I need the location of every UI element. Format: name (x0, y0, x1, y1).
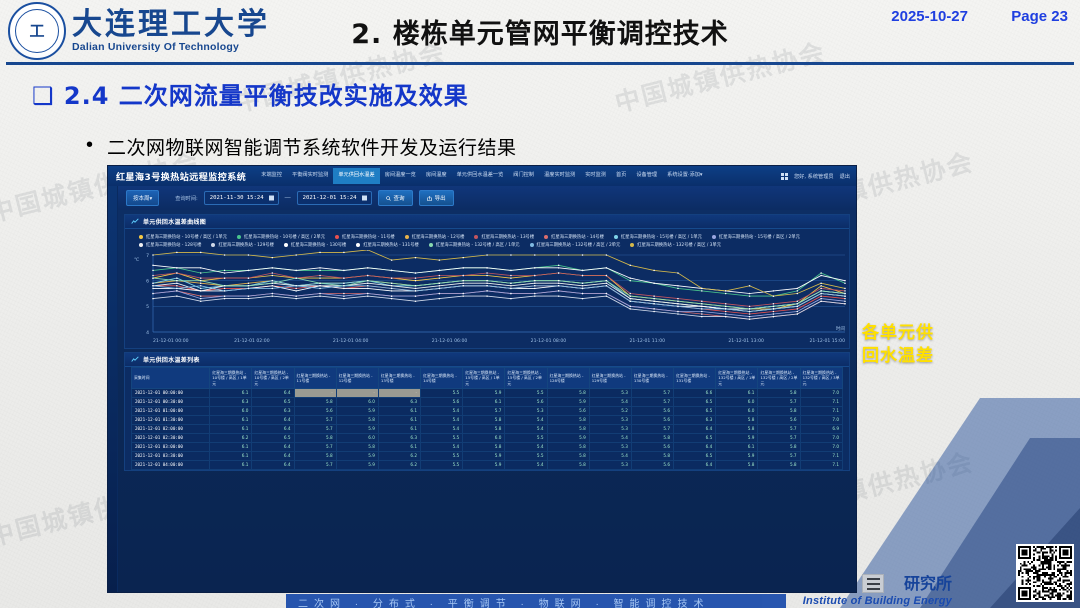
legend-item-7[interactable]: 红星海三期换热站 - 15号楼 / 高区 / 2单元 (712, 234, 800, 240)
slide-canvas: 中国城镇供热协会 中国城镇供热协会 中国城镇供热协会 中国城镇供热协会 中国城镇… (0, 0, 1080, 608)
table-cell: 5.6 (631, 460, 673, 469)
legend-item-11[interactable]: 红星海三期换热站 - 131号楼 (356, 242, 418, 248)
table-cell: 5.8 (758, 388, 800, 397)
footer-institute-cn: 研究所 (904, 570, 952, 594)
table-cell: 5.9 (463, 388, 505, 397)
legend-swatch (211, 243, 215, 247)
table-cell: 6.3 (252, 406, 294, 415)
table-cell: 6.5 (674, 397, 716, 406)
table-cell: 6.2 (210, 433, 252, 442)
table-cell: 6.6 (674, 388, 716, 397)
table-cell: 5.7 (631, 388, 673, 397)
svg-text:21-12-01 04:00: 21-12-01 04:00 (333, 338, 369, 344)
svg-text:4: 4 (146, 330, 149, 336)
table-cell: 6.1 (378, 406, 420, 415)
header-date: 2025-10-27 (891, 8, 968, 25)
legend-label: 红星海三期换热站 - 15号楼 / 高区 / 1单元 (621, 234, 702, 240)
table-cell: 5.5 (505, 433, 547, 442)
table-cell: 5.4 (505, 442, 547, 451)
chart-legend: 红星海三期换热站 - 10号楼 / 高区 / 1单元红星海三期换热站 - 10号… (125, 229, 849, 250)
table-chart-icon (131, 356, 139, 363)
table-row[interactable]: 2021-12-01 01:00:006.06.35.65.96.15.45.7… (132, 406, 843, 415)
table-cell: 7.1 (800, 460, 842, 469)
table-cell: 5.9 (336, 460, 378, 469)
table-cell-time: 2021-12-01 02:00:00 (132, 424, 210, 433)
legend-item-13[interactable]: 红星海三期换热站 - 132号楼 / 高区 / 2单元 (530, 242, 621, 248)
table-cell-time: 2021-12-01 01:00:00 (132, 406, 210, 415)
grid-icon[interactable] (781, 173, 788, 180)
table-cell: 6.3 (378, 433, 420, 442)
svg-text:21-12-01 13:00: 21-12-01 13:00 (728, 338, 764, 344)
table-cell: 5.9 (463, 451, 505, 460)
legend-label: 红星海三期换热站 - 12号楼 (412, 234, 465, 240)
legend-swatch (474, 235, 478, 239)
table-cell: 6.4 (252, 415, 294, 424)
table-cell: 6.2 (378, 451, 420, 460)
app-main-content: 按本周▾ 查询时间: 2021-11-30 15:24 — 2021-12-01… (118, 186, 856, 592)
legend-item-14[interactable]: 红星海三期换热站 - 132号楼 / 高区 / 3单元 (630, 242, 721, 248)
table-cell: 5.8 (463, 415, 505, 424)
legend-swatch (712, 235, 716, 239)
date-from-input[interactable]: 2021-11-30 15:24 (204, 191, 279, 205)
table-cell: 5.8 (547, 451, 589, 460)
table-cell: 5.7 (758, 424, 800, 433)
table-cell: 5.8 (631, 433, 673, 442)
qr-code (1016, 544, 1074, 602)
table-cell: 5.6 (758, 415, 800, 424)
table-cell: 6.3 (378, 397, 420, 406)
nav-item-11[interactable]: 系统设置·添加▾ (662, 169, 707, 182)
table-cell: 6.1 (378, 415, 420, 424)
export-button-label: 导出 (435, 194, 446, 202)
table-cell: 5.3 (589, 388, 631, 397)
table-cell: 5.6 (631, 442, 673, 451)
table-cell: 5.4 (505, 460, 547, 469)
table-cell: 5.7 (294, 442, 336, 451)
table-cell: 5.5 (421, 388, 463, 397)
date-to-input[interactable]: 2021-12-01 15:24 (297, 191, 372, 205)
legend-item-4[interactable]: 红星海三期换热站 - 13号楼 (474, 234, 534, 240)
line-chart-svg: 456721-12-01 00:0021-12-01 02:0021-12-01… (131, 250, 855, 346)
legend-swatch (139, 243, 143, 247)
chart-annotation-line1: 各单元供 (862, 322, 934, 345)
legend-label: 红星海三期换热站 - 132号楼 / 高区 / 3单元 (637, 242, 721, 248)
table-cell: 6.0 (336, 433, 378, 442)
table-col-11: 红星海三期换热站 - 131号楼 (674, 368, 716, 389)
legend-label: 红星海三期换热站 - 14号楼 (551, 234, 604, 240)
table-cell: 5.8 (294, 397, 336, 406)
table-cell: 5.8 (547, 424, 589, 433)
table-cell: 6.1 (716, 388, 758, 397)
table-cell: 5.6 (631, 406, 673, 415)
nav-item-2[interactable]: 单元供回水温差 (333, 168, 379, 183)
table-cell: 7.0 (800, 388, 842, 397)
table-cell: 5.5 (505, 388, 547, 397)
table-cell: 5.3 (589, 442, 631, 451)
svg-text:21-12-01 00:00: 21-12-01 00:00 (153, 338, 189, 344)
table-cell: 5.8 (463, 424, 505, 433)
legend-swatch (530, 243, 534, 247)
export-icon (427, 196, 432, 201)
legend-swatch (544, 235, 548, 239)
legend-item-3[interactable]: 红星海三期换热站 - 12号楼 (405, 234, 465, 240)
table-cell: 6.1 (716, 442, 758, 451)
table-cell-time: 2021-12-01 01:30:00 (132, 415, 210, 424)
table-cell: 6.4 (252, 451, 294, 460)
table-cell: 6.0 (716, 406, 758, 415)
table-cell: 6.0 (463, 433, 505, 442)
table-cell: 5.9 (336, 424, 378, 433)
footer-institute-en: Institute of Building Energy (803, 595, 952, 607)
svg-text:21-12-01 06:00: 21-12-01 06:00 (432, 338, 468, 344)
table-cell: 5.9 (463, 460, 505, 469)
table-cell: 6.5 (252, 397, 294, 406)
app-nav-items: 末端监控平衡阀实时监测单元供回水温差房间温度一览房间温度单元供回水温差一览阀门控… (256, 168, 707, 183)
table-cell: 5.8 (758, 442, 800, 451)
current-user-label: 您好, 系统管理员 (794, 173, 834, 180)
nav-item-5[interactable]: 单元供回水温差一览 (452, 169, 509, 182)
table-cell-time: 2021-12-01 04:00:00 (132, 460, 210, 469)
table-cell: 5.8 (716, 424, 758, 433)
svg-text:时间: 时间 (836, 325, 846, 332)
nav-item-10[interactable]: 设备管理 (631, 169, 662, 182)
legend-item-1[interactable]: 红星海三期换热站 - 10号楼 / 高区 / 2单元 (237, 234, 325, 240)
table-cell: 5.3 (589, 415, 631, 424)
date-preset-select[interactable]: 按本周▾ (126, 190, 159, 206)
table-col-time: 采集时间 (132, 368, 210, 389)
table-cell: 5.3 (589, 424, 631, 433)
table-cell: 5.8 (336, 442, 378, 451)
table-cell: 5.8 (463, 442, 505, 451)
legend-label: 红星海三期换热站 - 11号楼 (342, 234, 395, 240)
table-cell: 6.4 (674, 424, 716, 433)
legend-label: 红星海三期换热站 - 13号楼 (481, 234, 534, 240)
data-table: 采集时间红星海三期换热站 - 10号楼 / 高区 / 1单元红星海三期换热站 -… (131, 367, 843, 470)
table-cell: 5.5 (421, 451, 463, 460)
table-cell: 6.1 (210, 388, 252, 397)
table-col-9: 红星海三期换热站 - 129号楼 (589, 368, 631, 389)
table-cell: 5.8 (547, 388, 589, 397)
table-cell: 5.7 (758, 433, 800, 442)
table-cell: 5.4 (589, 433, 631, 442)
svg-text:7: 7 (146, 253, 149, 259)
table-cell: 5.3 (589, 460, 631, 469)
table-cell: 5.5 (421, 460, 463, 469)
nav-item-8[interactable]: 实时监测 (580, 169, 611, 182)
table-cell: - (378, 388, 420, 397)
table-cell-time: 2021-12-01 02:30:00 (132, 433, 210, 442)
table-cell: 5.9 (716, 451, 758, 460)
table-cell: 7.1 (800, 406, 842, 415)
table-col-2: 红星海三期换热站 - 11号楼 (294, 368, 336, 389)
table-cell: 5.4 (589, 451, 631, 460)
legend-label: 红星海三期换热站 - 10号楼 / 高区 / 2单元 (244, 234, 325, 240)
legend-item-6[interactable]: 红星海三期换热站 - 15号楼 / 高区 / 1单元 (614, 234, 702, 240)
app-nav-right: 您好, 系统管理员 退出 (781, 166, 850, 186)
table-cell: 5.8 (758, 406, 800, 415)
table-cell: 5.7 (294, 460, 336, 469)
table-panel-header: 单元供回水温差列表 (125, 353, 849, 367)
header-divider (6, 62, 1074, 65)
table-cell: 6.1 (378, 442, 420, 451)
table-cell: 5.4 (421, 424, 463, 433)
table-cell: 5.7 (294, 415, 336, 424)
table-cell: 5.7 (631, 424, 673, 433)
table-cell: 7.0 (800, 442, 842, 451)
table-cell: 5.7 (758, 451, 800, 460)
date-range-dash: — (285, 195, 291, 201)
chart-panel: 单元供回水温差曲线图 红星海三期换热站 - 10号楼 / 高区 / 1单元红星海… (124, 214, 850, 349)
table-cell: 6.2 (378, 460, 420, 469)
table-body: 2021-12-01 00:00:006.16.4---5.55.95.55.8… (132, 388, 843, 469)
app-brand-title: 红星海3号换热站远程监控系统 (116, 170, 246, 183)
table-cell: 5.6 (421, 397, 463, 406)
table-cell: 7.0 (800, 433, 842, 442)
table-col-3: 红星海三期换热站 - 12号楼 (336, 368, 378, 389)
embedded-app-screenshot: 红星海3号换热站远程监控系统 末端监控平衡阀实时监测单元供回水温差房间温度一览房… (108, 166, 856, 592)
table-cell: 5.8 (547, 442, 589, 451)
table-cell: 6.4 (674, 442, 716, 451)
table-row[interactable]: 2021-12-01 02:00:006.16.45.75.96.15.45.8… (132, 424, 843, 433)
svg-text:℃: ℃ (134, 257, 139, 263)
table-cell: 6.1 (210, 415, 252, 424)
legend-label: 红星海三期换热站 - 131号楼 (363, 242, 418, 248)
table-cell: 7.1 (800, 397, 842, 406)
table-row[interactable]: 2021-12-01 04:00:006.16.45.75.96.25.55.9… (132, 460, 843, 469)
legend-swatch (237, 235, 241, 239)
table-cell: 6.4 (252, 460, 294, 469)
legend-swatch (139, 235, 143, 239)
legend-item-2[interactable]: 红星海三期换热站 - 11号楼 (335, 234, 395, 240)
table-cell: 6.1 (210, 451, 252, 460)
table-row[interactable]: 2021-12-01 01:30:006.16.45.75.86.15.45.8… (132, 415, 843, 424)
bullet-text: 二次网物联网智能调节系统软件开发及运行结果 (107, 133, 517, 160)
table-cell: 5.8 (716, 415, 758, 424)
table-head: 采集时间红星海三期换热站 - 10号楼 / 高区 / 1单元红星海三期换热站 -… (132, 368, 843, 389)
table-cell: 5.8 (547, 460, 589, 469)
table-cell: 5.9 (336, 451, 378, 460)
legend-label: 红星海三期换热站 - 132号楼 / 高区 / 2单元 (537, 242, 621, 248)
legend-label: 红星海三期换热站 - 10号楼 / 高区 / 1单元 (146, 234, 227, 240)
nav-item-6[interactable]: 阀门控制 (508, 169, 539, 182)
table-cell: 6.4 (252, 388, 294, 397)
table-cell-time: 2021-12-01 00:00:00 (132, 388, 210, 397)
table-col-7: 红星海三期换热站 - 15号楼 / 高区 / 2单元 (505, 368, 547, 389)
table-cell: 5.4 (505, 424, 547, 433)
table-cell: 5.4 (589, 397, 631, 406)
table-cell: 5.4 (505, 415, 547, 424)
table-col-4: 红星海三期换热站 - 13号楼 (378, 368, 420, 389)
table-cell: 5.7 (758, 397, 800, 406)
table-cell: 5.5 (421, 433, 463, 442)
table-cell: - (294, 388, 336, 397)
table-cell: 5.9 (716, 433, 758, 442)
table-cell: 5.7 (294, 424, 336, 433)
table-cell: 7.1 (800, 451, 842, 460)
table-header-row: 采集时间红星海三期换热站 - 10号楼 / 高区 / 1单元红星海三期换热站 -… (132, 368, 843, 389)
app-sidebar (108, 186, 118, 592)
search-button-label: 查询 (394, 194, 405, 202)
legend-item-8[interactable]: 红星海三期换热站 - 128号楼 (139, 242, 201, 248)
qr-code-image (1018, 546, 1072, 600)
table-cell: 6.4 (252, 442, 294, 451)
legend-swatch (335, 235, 339, 239)
table-cell: 5.8 (758, 460, 800, 469)
table-col-12: 红星海三期换热站 - 132号楼 / 高区 / 1单元 (716, 368, 758, 389)
legend-item-9[interactable]: 红星海三期换热站 - 129号楼 (211, 242, 273, 248)
page-number: Page 23 (1011, 8, 1068, 25)
svg-text:21-12-01 08:00: 21-12-01 08:00 (531, 338, 567, 344)
table-cell: 5.6 (294, 406, 336, 415)
line-chart-icon (131, 218, 139, 225)
table-cell: 5.4 (421, 442, 463, 451)
legend-swatch (284, 243, 288, 247)
svg-text:21-12-01 11:00: 21-12-01 11:00 (630, 338, 666, 344)
export-button[interactable]: 导出 (419, 190, 454, 206)
table-cell-time: 2021-12-01 03:00:00 (132, 442, 210, 451)
legend-swatch (429, 243, 433, 247)
table-col-5: 红星海三期换热站 - 14号楼 (421, 368, 463, 389)
section-title: ❑ 2.4 二次网流量平衡技改实施及效果 (32, 76, 469, 111)
search-button[interactable]: 查询 (378, 190, 413, 206)
table-panel-title: 单元供回水温差列表 (143, 355, 200, 364)
table-cell-time: 2021-12-01 03:30:00 (132, 451, 210, 460)
table-panel: 单元供回水温差列表 采集时间红星海三期换热站 - 10号楼 / 高区 / 1单元… (124, 352, 850, 471)
table-cell: 5.7 (463, 406, 505, 415)
table-cell: 5.4 (421, 415, 463, 424)
table-cell-time: 2021-12-01 00:30:00 (132, 397, 210, 406)
bullet-item: • 二次网物联网智能调节系统软件开发及运行结果 (86, 133, 517, 160)
footer-strip: 二次网 · 分布式 · 平衡调节 · 物联网 · 智能调控技术 (286, 594, 786, 608)
table-cell: 5.4 (421, 406, 463, 415)
table-cell: 6.4 (252, 424, 294, 433)
table-cell: 6.5 (252, 433, 294, 442)
table-cell: 6.0 (336, 397, 378, 406)
query-toolbar: 按本周▾ 查询时间: 2021-11-30 15:24 — 2021-12-01… (118, 186, 856, 210)
footer-strip-text: 二次网 · 分布式 · 平衡调节 · 物联网 · 智能调控技术 (298, 595, 710, 608)
chart-annotation-line2: 回水温差 (862, 345, 934, 368)
table-cell: 6.1 (210, 460, 252, 469)
table-cell: 6.1 (210, 424, 252, 433)
table-cell: 5.7 (631, 397, 673, 406)
legend-swatch (356, 243, 360, 247)
legend-label: 红星海三期换热站 - 132号楼 / 高区 / 1单元 (436, 242, 520, 248)
nav-item-3[interactable]: 房间温度一览 (380, 169, 421, 182)
table-cell: 5.6 (505, 397, 547, 406)
chart-annotation: 各单元供 回水温差 (862, 322, 934, 368)
table-cell: 5.9 (336, 406, 378, 415)
legend-swatch (614, 235, 618, 239)
table-cell: 5.6 (547, 406, 589, 415)
data-table-wrapper[interactable]: 采集时间红星海三期换热站 - 10号楼 / 高区 / 1单元红星海三期换热站 -… (131, 367, 843, 470)
legend-swatch (630, 243, 634, 247)
legend-item-5[interactable]: 红星海三期换热站 - 14号楼 (544, 234, 604, 240)
legend-item-12[interactable]: 红星海三期换热站 - 132号楼 / 高区 / 1单元 (429, 242, 520, 248)
svg-text:21-12-01 15:00: 21-12-01 15:00 (809, 338, 845, 344)
nav-item-9[interactable]: 首页 (611, 169, 631, 182)
legend-item-0[interactable]: 红星海三期换热站 - 10号楼 / 高区 / 1单元 (139, 234, 227, 240)
table-cell: 5.5 (505, 451, 547, 460)
svg-text:6: 6 (146, 278, 149, 284)
chart-plot-area: 456721-12-01 00:0021-12-01 02:0021-12-01… (131, 250, 843, 346)
nav-item-4[interactable]: 房间温度 (421, 169, 452, 182)
table-cell: 7.0 (800, 415, 842, 424)
chart-panel-header: 单元供回水温差曲线图 (125, 215, 849, 229)
table-col-0: 红星海三期换热站 - 10号楼 / 高区 / 1单元 (210, 368, 252, 389)
table-row[interactable]: 2021-12-01 03:00:006.16.45.75.86.15.45.8… (132, 442, 843, 451)
table-cell: 5.6 (631, 415, 673, 424)
bullet-marker: • (86, 133, 93, 157)
nav-item-1[interactable]: 平衡阀实时监测 (287, 169, 333, 182)
svg-text:21-12-01 02:00: 21-12-01 02:00 (234, 338, 270, 344)
table-cell: 5.3 (505, 406, 547, 415)
table-cell: 6.5 (674, 433, 716, 442)
nav-item-0[interactable]: 末端监控 (256, 169, 287, 182)
table-cell: 5.8 (716, 460, 758, 469)
legend-label: 红星海三期换热站 - 130号楼 (291, 242, 346, 248)
table-row[interactable]: 2021-12-01 02:30:006.26.55.86.06.35.56.0… (132, 433, 843, 442)
table-col-1: 红星海三期换热站 - 10号楼 / 高区 / 2单元 (252, 368, 294, 389)
table-cell: 5.8 (547, 415, 589, 424)
search-icon (386, 196, 391, 201)
svg-text:5: 5 (146, 304, 149, 310)
table-col-13: 红星海三期换热站 - 132号楼 / 高区 / 2单元 (758, 368, 800, 389)
logout-button[interactable]: 退出 (840, 173, 850, 180)
legend-item-10[interactable]: 红星海三期换热站 - 130号楼 (284, 242, 346, 248)
table-cell: 6.5 (674, 406, 716, 415)
table-cell: 6.4 (674, 460, 716, 469)
legend-label: 红星海三期换热站 - 15号楼 / 高区 / 2单元 (719, 234, 800, 240)
slide-header: 工 大连理工大学 Dalian University Of Technology… (0, 0, 1080, 62)
table-col-8: 红星海三期换热站 - 128号楼 (547, 368, 589, 389)
table-cell: 6.9 (800, 424, 842, 433)
table-cell: 6.0 (210, 406, 252, 415)
table-cell: 5.8 (336, 415, 378, 424)
table-row[interactable]: 2021-12-01 03:30:006.16.45.85.96.25.55.9… (132, 451, 843, 460)
table-cell: 6.1 (210, 442, 252, 451)
table-cell: 6.0 (716, 397, 758, 406)
table-cell: 5.9 (547, 397, 589, 406)
nav-item-7[interactable]: 温度实时监测 (539, 169, 580, 182)
app-navbar: 红星海3号换热站远程监控系统 末端监控平衡阀实时监测单元供回水温差房间温度一览房… (108, 166, 856, 186)
table-col-10: 红星海三期换热站 - 130号楼 (631, 368, 673, 389)
table-row[interactable]: 2021-12-01 00:30:006.36.55.86.06.35.66.1… (132, 397, 843, 406)
table-cell: 6.1 (463, 397, 505, 406)
table-col-14: 红星海三期换热站 - 132号楼 / 高区 / 3单元 (800, 368, 842, 389)
query-time-label: 查询时间: (175, 195, 198, 202)
chart-panel-title: 单元供回水温差曲线图 (143, 217, 206, 226)
table-cell: 5.8 (294, 451, 336, 460)
menu-icon[interactable] (862, 574, 884, 593)
table-cell: 5.8 (294, 433, 336, 442)
legend-swatch (405, 235, 409, 239)
table-cell: 5.8 (631, 451, 673, 460)
table-cell: 5.2 (589, 406, 631, 415)
table-cell: 6.3 (674, 415, 716, 424)
table-cell: 6.5 (674, 451, 716, 460)
legend-label: 红星海三期换热站 - 129号楼 (218, 242, 273, 248)
table-cell: 5.9 (547, 433, 589, 442)
table-col-6: 红星海三期换热站 - 15号楼 / 高区 / 1单元 (463, 368, 505, 389)
table-cell: 6.1 (378, 424, 420, 433)
legend-label: 红星海三期换热站 - 128号楼 (146, 242, 201, 248)
table-cell: - (336, 388, 378, 397)
table-cell: 6.3 (210, 397, 252, 406)
table-row[interactable]: 2021-12-01 00:00:006.16.4---5.55.95.55.8… (132, 388, 843, 397)
